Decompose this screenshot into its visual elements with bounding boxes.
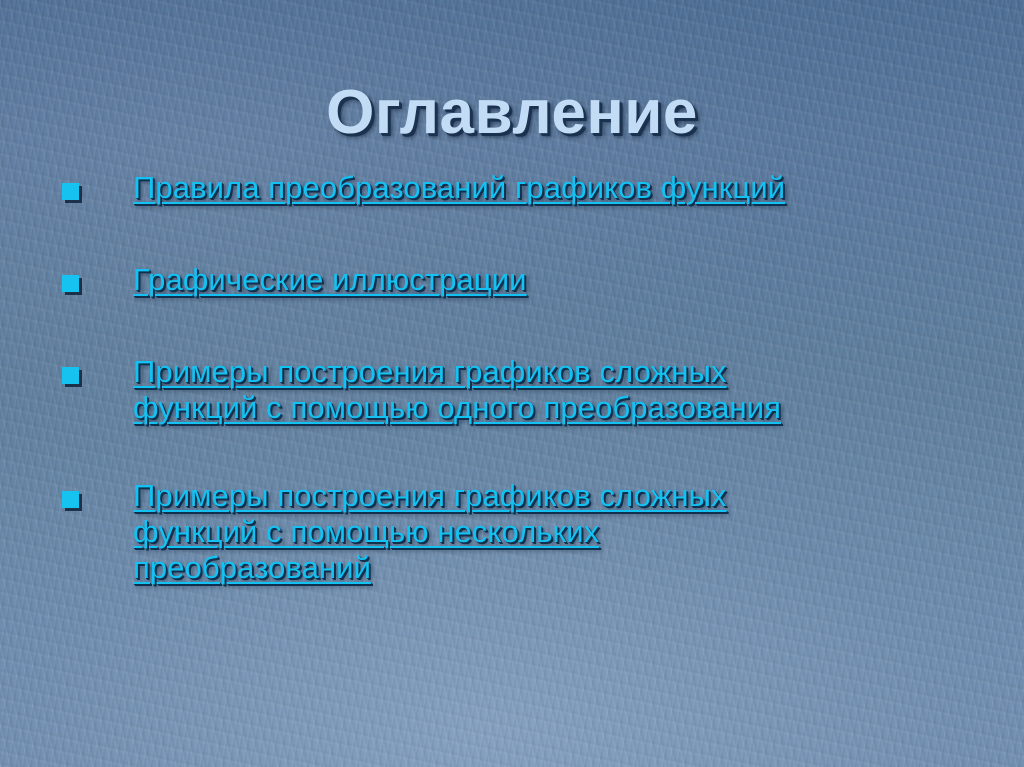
toc-link-line: Примеры построения графиков сложных — [133, 354, 1024, 390]
toc-link-line: Примеры построения графиков сложных — [133, 478, 1024, 514]
list-item[interactable]: Примеры построения графиков сложных функ… — [0, 478, 1024, 586]
toc-link-line: Правила преобразований графиков функций — [133, 170, 1024, 206]
toc-link-line: функций с помощью одного преобразования — [133, 390, 1024, 426]
square-bullet-icon — [62, 275, 79, 292]
toc-link-line: Графические иллюстрации — [133, 262, 1024, 298]
toc-link-rules[interactable]: Правила преобразований графиков функций — [133, 170, 1024, 206]
square-bullet-icon — [62, 183, 79, 200]
list-item[interactable]: Графические иллюстрации — [0, 262, 1024, 298]
list-item[interactable]: Правила преобразований графиков функций — [0, 170, 1024, 206]
list-item[interactable]: Примеры построения графиков сложных функ… — [0, 354, 1024, 426]
toc-link-line: преобразований — [133, 550, 1024, 586]
page-title: Оглавление — [0, 80, 1024, 145]
toc-link-illustrations[interactable]: Графические иллюстрации — [133, 262, 1024, 298]
presentation-slide: Оглавление Правила преобразований график… — [0, 0, 1024, 767]
square-bullet-icon — [62, 367, 79, 384]
square-bullet-icon — [62, 491, 79, 508]
table-of-contents-list: Правила преобразований графиков функций … — [0, 170, 1024, 638]
toc-link-single-transformation-examples[interactable]: Примеры построения графиков сложных функ… — [133, 354, 1024, 426]
toc-link-multiple-transformations-examples[interactable]: Примеры построения графиков сложных функ… — [133, 478, 1024, 586]
toc-link-line: функций с помощью нескольких — [133, 514, 1024, 550]
